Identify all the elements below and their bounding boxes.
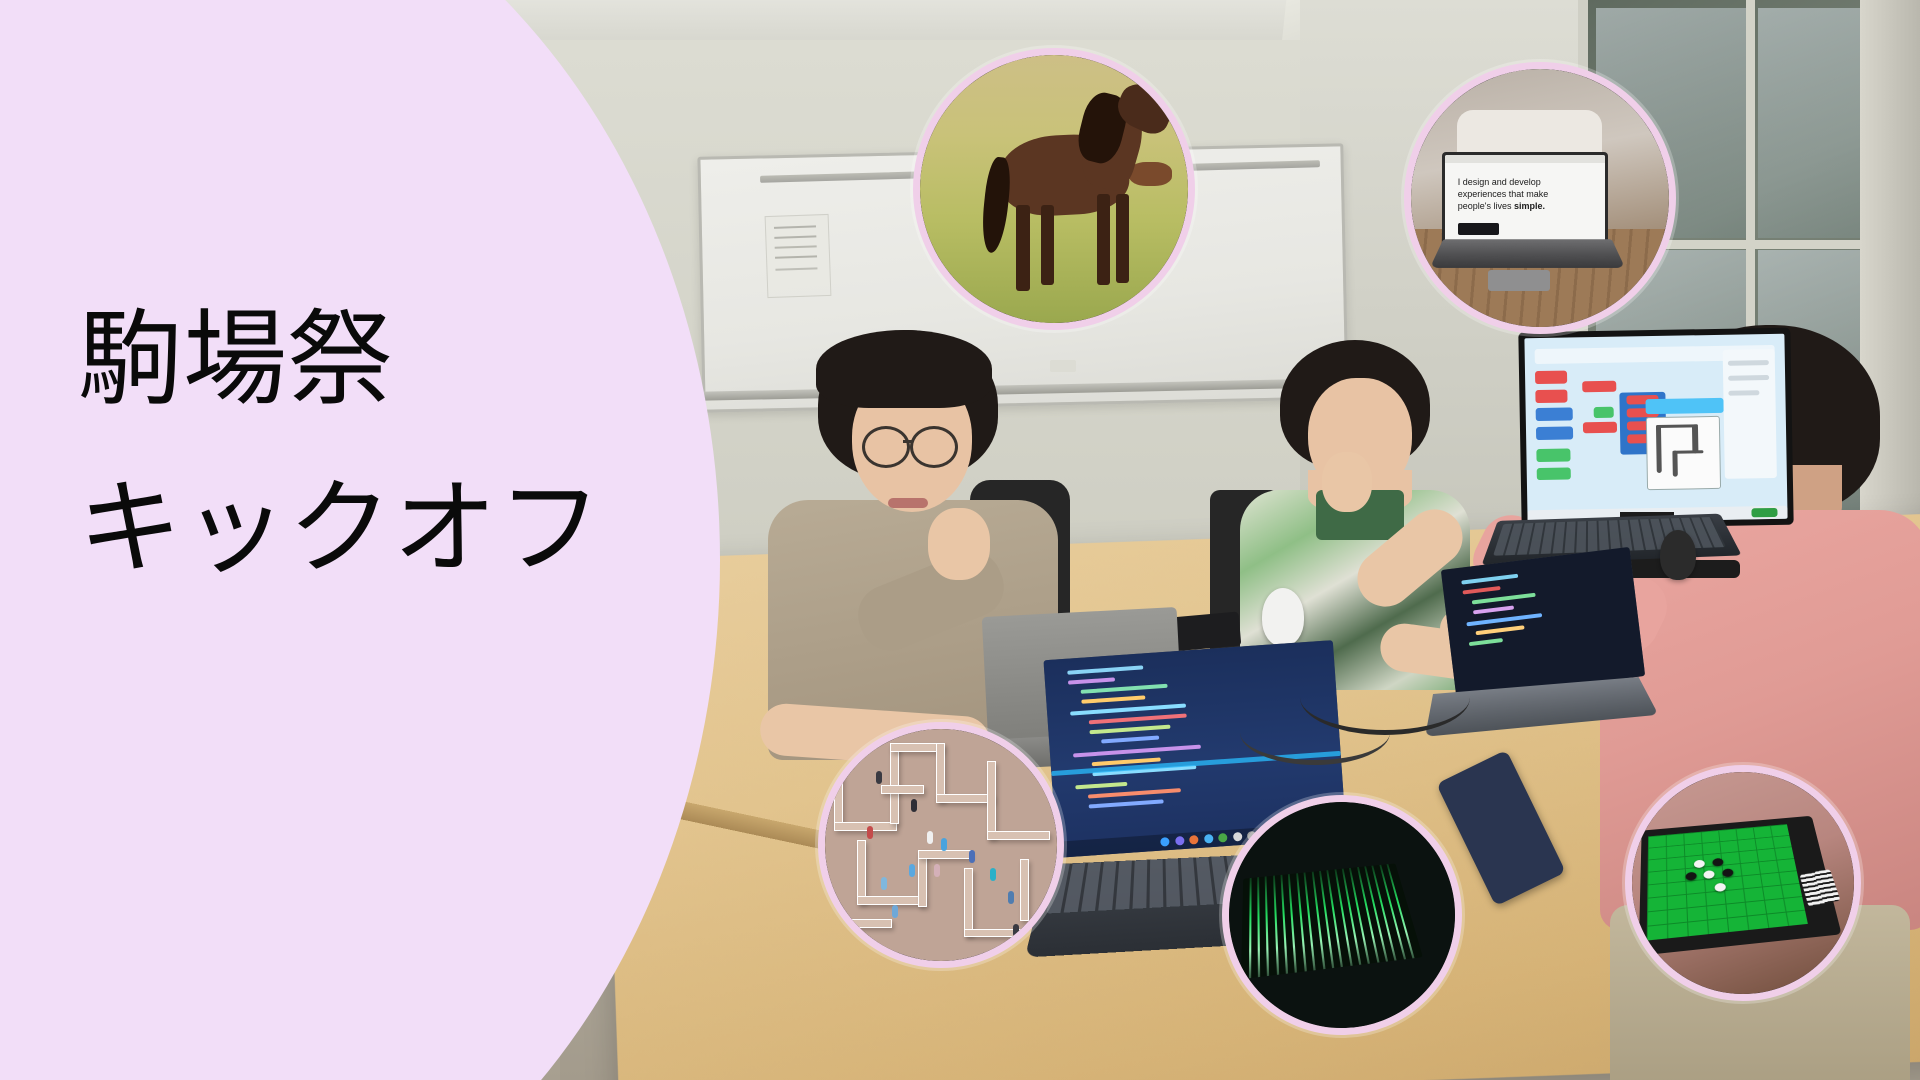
eyeglasses (910, 426, 958, 468)
portfolio-text-line-1: I design and develop (1458, 176, 1592, 188)
portfolio-cta-button[interactable] (1458, 223, 1500, 235)
title-line-1: 駒場祭 (78, 290, 698, 429)
hand-on-chin (928, 508, 990, 580)
portfolio-text-line-2: experiences that make (1458, 188, 1592, 200)
title-line-2: キックオフ (78, 459, 698, 598)
portfolio-text-line-3: people's lives (1458, 201, 1512, 211)
monitor-scratch (1518, 328, 1793, 530)
ceiling-beam (1274, 0, 1427, 120)
othello-case (1638, 816, 1842, 956)
matrix-screen (1241, 863, 1423, 979)
portfolio-laptop-photo-bubble: I design and develop experiences that ma… (1404, 62, 1676, 334)
portfolio-text-emphasis: simple. (1514, 201, 1545, 211)
eyeglasses (862, 426, 910, 468)
othello-board (1647, 824, 1807, 940)
power-adapter (1159, 612, 1242, 653)
horse-photo-bubble (913, 48, 1195, 330)
matrix-code-photo-bubble (1222, 795, 1462, 1035)
maze-photo-bubble (818, 722, 1064, 968)
laptop-right-screen (1441, 547, 1645, 699)
banner-root: 駒場祭 キックオフ (0, 0, 1920, 1080)
othello-board-photo-bubble (1625, 765, 1861, 1001)
whiteboard-note (765, 214, 832, 298)
page-title: 駒場祭 キックオフ (78, 290, 698, 599)
laptop-right (1441, 547, 1645, 699)
portfolio-screen-text: I design and develop experiences that ma… (1458, 176, 1592, 212)
portfolio-laptop-lid: I design and develop experiences that ma… (1442, 152, 1608, 246)
